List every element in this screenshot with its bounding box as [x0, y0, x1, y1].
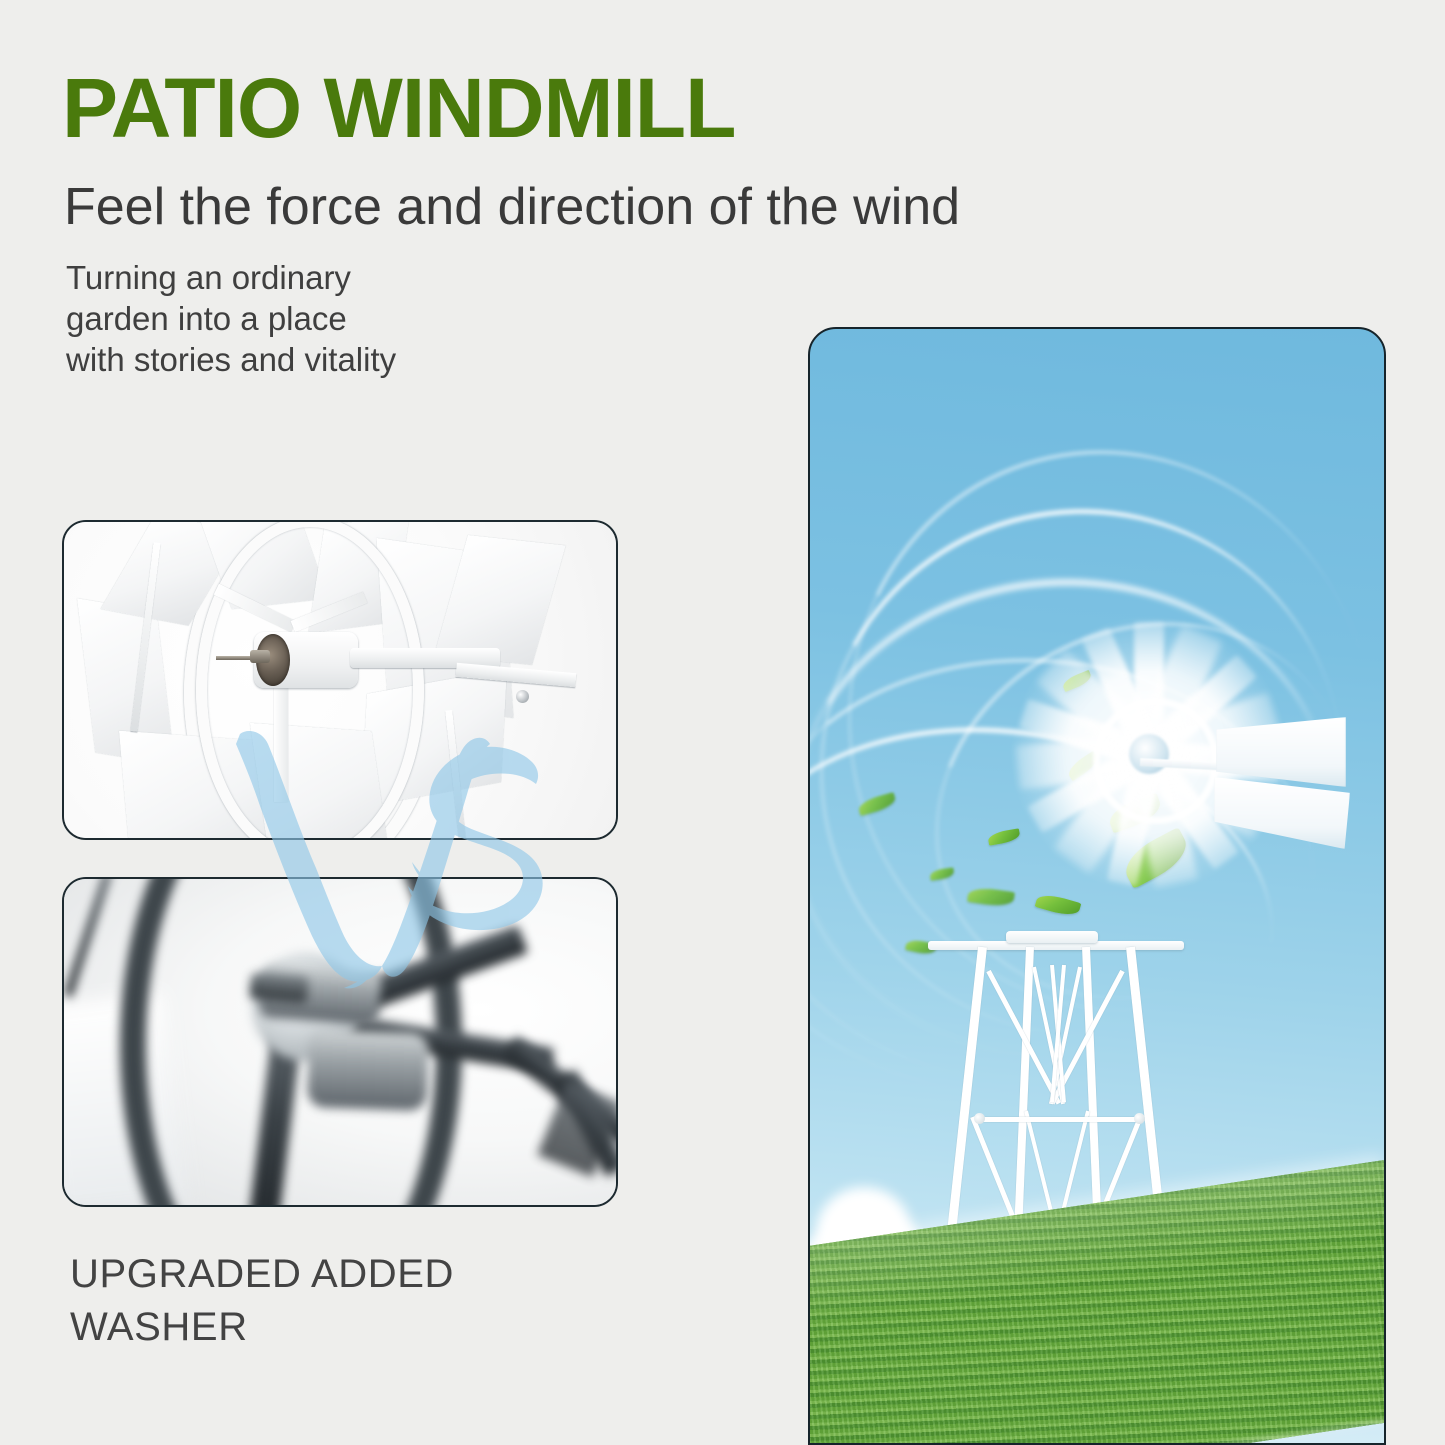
axle-pin-tip: [250, 650, 270, 663]
description-line: with stories and vitality: [66, 340, 396, 381]
axle-bolt: [249, 973, 309, 1004]
tower-girt: [976, 1117, 1142, 1122]
tower-joint: [1134, 1113, 1145, 1124]
hub-collar: [307, 1029, 430, 1111]
fan-hub: [1129, 734, 1169, 774]
detail-card-washer: [62, 877, 618, 1207]
tower-joint: [974, 1113, 985, 1124]
tower-platform-cap: [1006, 931, 1098, 943]
screw: [516, 690, 529, 703]
feature-caption-line: WASHER: [70, 1301, 454, 1354]
page-subtitle: Feel the force and direction of the wind: [64, 178, 960, 238]
description-line: garden into a place: [66, 299, 396, 340]
scene-inner: [810, 329, 1384, 1443]
washer-photo: [64, 879, 616, 1205]
product-feature-graphic: PATIO WINDMILL Feel the force and direct…: [0, 0, 1445, 1445]
page-title: PATIO WINDMILL: [62, 66, 735, 150]
blade-hub-photo: [64, 522, 616, 838]
feature-caption: UPGRADED ADDED WASHER: [70, 1248, 454, 1354]
hero-scene-windmill: [808, 327, 1386, 1445]
feature-caption-line: UPGRADED ADDED: [70, 1248, 454, 1301]
page-description: Turning an ordinary garden into a place …: [66, 258, 396, 381]
spoke: [274, 672, 288, 802]
detail-card-blade-hub: [62, 520, 618, 840]
description-line: Turning an ordinary: [66, 258, 396, 299]
